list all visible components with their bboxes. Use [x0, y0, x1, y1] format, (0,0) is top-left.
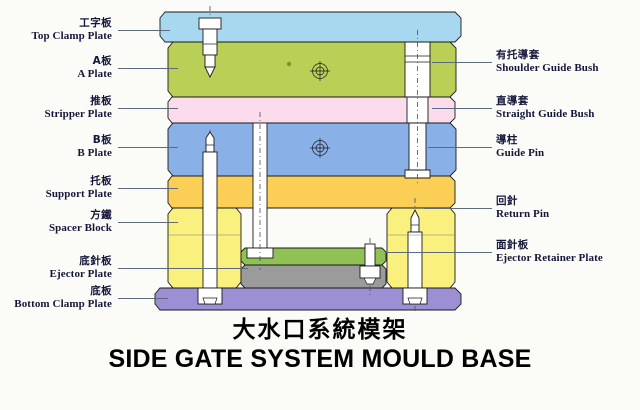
leader-straight-guide-bush — [432, 108, 492, 109]
label-en: Ejector Retainer Plate — [496, 252, 603, 264]
label-shoulder-guide-bush: 有托導套 Shoulder Guide Bush — [496, 50, 599, 74]
label-stripper-plate: 推板 Stripper Plate — [45, 96, 113, 120]
label-support-plate: 托板 Support Plate — [46, 176, 112, 200]
leader-support-plate — [118, 188, 178, 189]
label-en: Return Pin — [496, 208, 549, 220]
label-ejector-retainer-plate: 面針板 Ejector Retainer Plate — [496, 240, 603, 264]
label-straight-guide-bush: 直導套 Straight Guide Bush — [496, 96, 594, 120]
label-en: Shoulder Guide Bush — [496, 62, 599, 74]
return-pin-right-shank — [408, 232, 422, 288]
leader-a-plate — [118, 68, 178, 69]
label-return-pin: 回針 Return Pin — [496, 196, 549, 220]
leader-top-clamp-plate — [118, 30, 170, 31]
label-cn: 底針板 — [50, 256, 112, 268]
label-a-plate: A板 A Plate — [77, 56, 112, 80]
label-en: Guide Pin — [496, 147, 544, 159]
leader-return-pin — [424, 208, 492, 209]
label-cn: 托板 — [46, 176, 112, 188]
cap-screw-shank — [203, 29, 217, 55]
label-en: Ejector Plate — [50, 268, 112, 280]
label-cn: 工字板 — [31, 18, 112, 30]
label-en: Bottom Clamp Plate — [14, 298, 112, 310]
leader-ejector-plate — [118, 268, 248, 269]
label-ejector-plate: 底針板 Ejector Plate — [50, 256, 112, 280]
label-spacer-block: 方鐵 Spacer Block — [49, 210, 112, 234]
title-block: 大水口系統模架 SIDE GATE SYSTEM MOULD BASE — [0, 318, 640, 374]
ejector-plate-screw-shank — [365, 244, 375, 266]
title-chinese: 大水口系統模架 — [0, 318, 640, 343]
label-cn: B板 — [77, 135, 112, 147]
leader-shoulder-guide-bush — [432, 62, 492, 63]
mould-base-diagram-page: .ol { stroke:#1a1a1a; stroke-width:0.9; … — [0, 0, 640, 410]
label-top-clamp-plate: 工字板 Top Clamp Plate — [31, 18, 112, 42]
label-cn: 推板 — [45, 96, 113, 108]
label-en: Spacer Block — [49, 222, 112, 234]
label-cn: 面針板 — [496, 240, 603, 252]
label-en: B Plate — [77, 147, 112, 159]
label-cn: 方鐵 — [49, 210, 112, 222]
label-b-plate: B板 B Plate — [77, 135, 112, 159]
label-cn: 直導套 — [496, 96, 594, 108]
label-cn: A板 — [77, 56, 112, 68]
label-en: A Plate — [77, 68, 112, 80]
leader-spacer-block — [118, 222, 178, 223]
label-cn: 導柱 — [496, 135, 544, 147]
cap-screw-head — [199, 18, 221, 29]
label-bottom-clamp-plate: 底板 Bottom Clamp Plate — [14, 286, 112, 310]
guide-pin-assembly — [405, 30, 430, 186]
label-guide-pin: 導柱 Guide Pin — [496, 135, 544, 159]
leader-guide-pin — [428, 147, 492, 148]
label-cn: 底板 — [14, 286, 112, 298]
label-en: Straight Guide Bush — [496, 108, 594, 120]
leader-stripper-plate — [118, 108, 178, 109]
leader-b-plate — [118, 147, 178, 148]
ejector-plate-screw-head — [360, 266, 380, 278]
title-english: SIDE GATE SYSTEM MOULD BASE — [0, 345, 640, 374]
label-cn: 回針 — [496, 196, 549, 208]
label-cn: 有托導套 — [496, 50, 599, 62]
leader-bottom-clamp-plate — [118, 298, 168, 299]
label-en: Support Plate — [46, 188, 112, 200]
leader-ejector-retainer-plate — [386, 252, 492, 253]
label-en: Top Clamp Plate — [31, 30, 112, 42]
label-en: Stripper Plate — [45, 108, 113, 120]
